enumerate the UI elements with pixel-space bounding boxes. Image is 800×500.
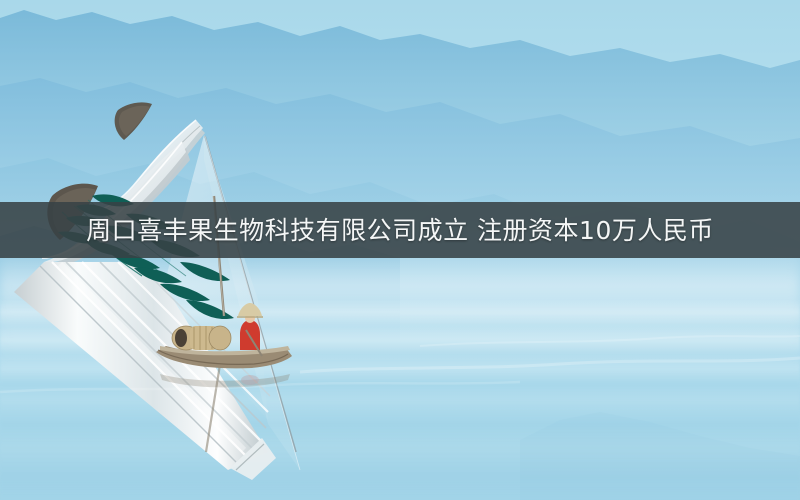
- boat-canopy: [172, 326, 231, 350]
- banner-title-text: 周口喜丰果生物科技有限公司成立 注册资本10万人民币: [86, 218, 714, 243]
- title-banner: 周口喜丰果生物科技有限公司成立 注册资本10万人民币: [0, 202, 800, 258]
- hero-banner-image: 周口喜丰果生物科技有限公司成立 注册资本10万人民币: [0, 0, 800, 500]
- boatman-figure: [237, 303, 263, 356]
